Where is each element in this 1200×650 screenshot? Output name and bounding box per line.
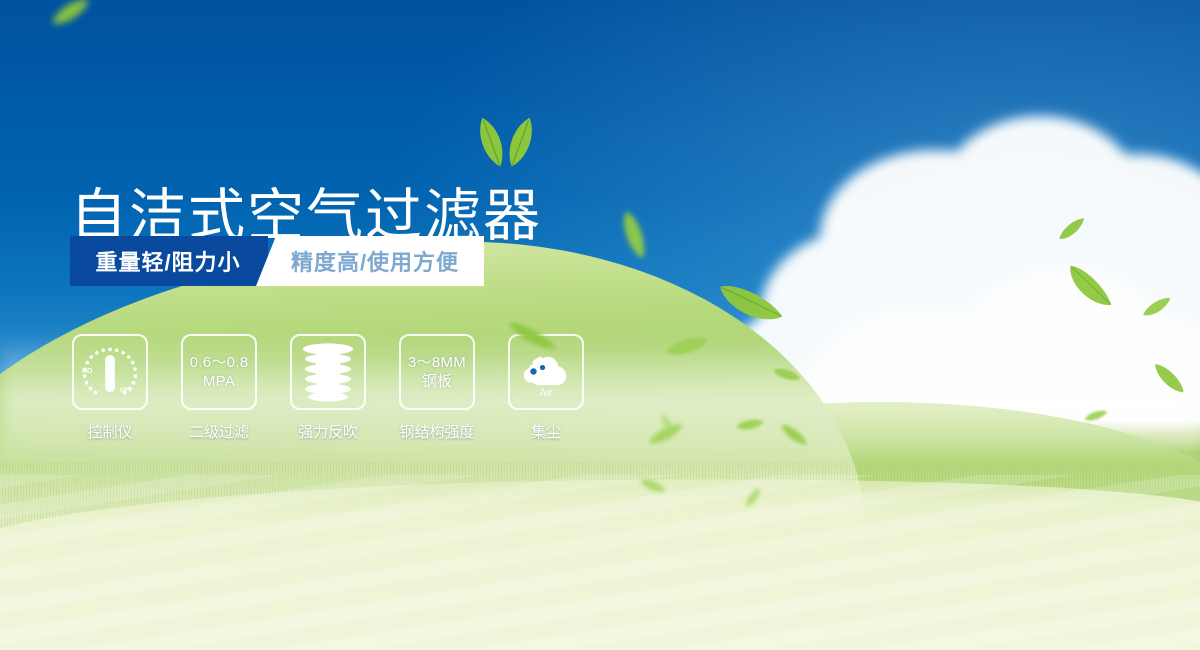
control-dial-icon: NO OFF: [72, 334, 148, 410]
feature-label: 二级过滤: [189, 421, 249, 442]
air-cloud-icon: Air: [508, 334, 584, 410]
subtitle-left: 重量轻/阻力小: [70, 236, 268, 286]
steel-thickness: 3～8MM: [408, 353, 466, 372]
pressure-text-icon: 0.6～0.8 MPA: [181, 334, 257, 410]
svg-text:NO: NO: [82, 368, 93, 375]
feature-item-pressure[interactable]: 0.6～0.8 MPA 二级过滤: [179, 334, 259, 442]
feature-label: 集尘: [531, 421, 561, 442]
feature-item-steel[interactable]: 3～8MM 钢板 钢结构强度: [397, 334, 477, 442]
sprout-leaves-icon: [470, 110, 542, 172]
pressure-unit: MPA: [203, 372, 235, 391]
banner-hero: 自洁式空气过滤器 重量轻/阻力小 精度高/使用方便: [0, 0, 1200, 650]
subtitle-right: 精度高/使用方便: [256, 236, 484, 286]
svg-text:OFF: OFF: [120, 387, 133, 394]
feature-label: 强力反吹: [298, 421, 358, 442]
air-label: Air: [539, 387, 553, 398]
feature-item-control[interactable]: NO OFF 控制仪: [70, 334, 150, 442]
feature-item-dust[interactable]: Air 集尘: [506, 334, 586, 442]
feature-label: 钢结构强度: [399, 421, 474, 442]
feature-item-blowback[interactable]: 强力反吹: [288, 334, 368, 442]
feature-label: 控制仪: [87, 421, 132, 442]
steel-material: 钢板: [422, 372, 453, 391]
pressure-value: 0.6～0.8: [190, 353, 249, 372]
feature-list: NO OFF 控制仪 0.6～0.8 MPA 二级过滤: [70, 334, 586, 442]
banner-content: 自洁式空气过滤器 重量轻/阻力小 精度高/使用方便: [0, 0, 1200, 650]
steel-plate-text-icon: 3～8MM 钢板: [399, 334, 475, 410]
subtitle-bar: 重量轻/阻力小 精度高/使用方便: [70, 236, 484, 286]
filter-cartridge-icon: [290, 334, 366, 410]
